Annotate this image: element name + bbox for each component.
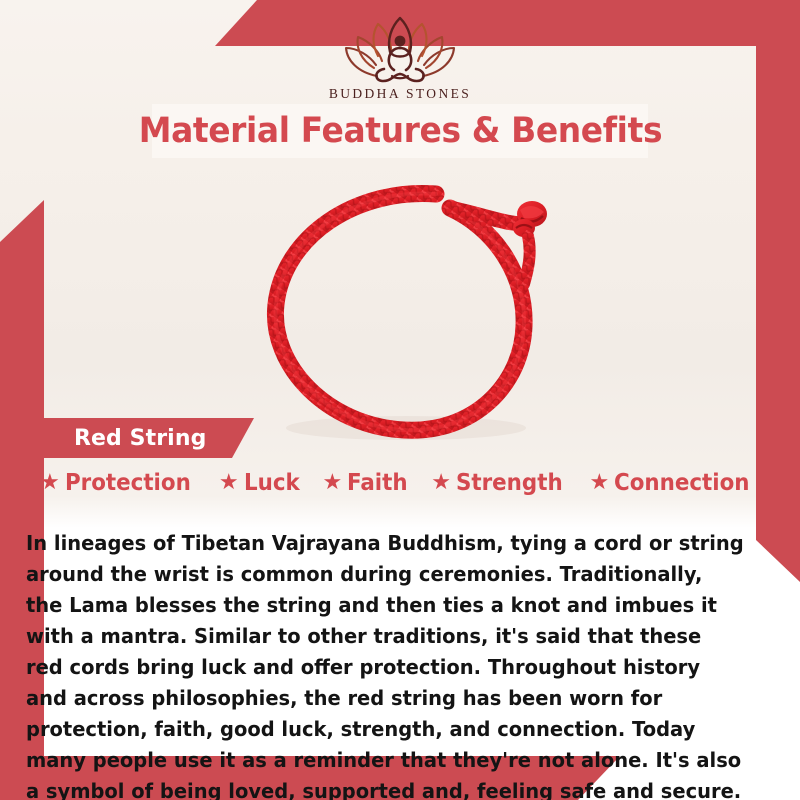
benefit-item-faith: ★ Faith	[322, 470, 412, 496]
infographic-poster: BUDDHA STONES Material Features & Benefi…	[0, 0, 800, 800]
benefit-label: Luck	[244, 470, 300, 496]
benefit-item-protection: ★ Protection	[40, 470, 200, 496]
brand-logo: BUDDHA STONES	[0, 10, 800, 102]
section-label: Red String	[74, 426, 206, 451]
star-icon: ★	[40, 471, 60, 493]
page-title: Material Features & Benefits	[138, 111, 661, 151]
section-label-ribbon: Red String	[44, 418, 254, 458]
lotus-meditating-figure-icon	[337, 10, 463, 84]
benefit-item-strength: ★ Strength	[431, 470, 570, 496]
star-icon: ★	[219, 471, 239, 493]
benefits-row: ★ Protection ★ Luck ★ Faith ★ Strength ★…	[40, 466, 760, 500]
product-image-red-string-bracelet	[236, 158, 586, 458]
star-icon: ★	[431, 471, 451, 493]
brand-name: BUDDHA STONES	[329, 86, 471, 102]
benefit-label: Strength	[456, 470, 563, 496]
benefit-item-luck: ★ Luck	[219, 470, 304, 496]
benefit-label: Faith	[347, 470, 408, 496]
title-banner: Material Features & Benefits	[152, 104, 648, 158]
benefit-label: Protection	[65, 470, 191, 496]
star-icon: ★	[590, 471, 610, 493]
benefit-item-connection: ★ Connection	[590, 470, 760, 496]
star-icon: ★	[322, 471, 342, 493]
body-paragraph: In lineages of Tibetan Vajrayana Buddhis…	[26, 528, 744, 800]
benefit-label: Connection	[614, 470, 750, 496]
